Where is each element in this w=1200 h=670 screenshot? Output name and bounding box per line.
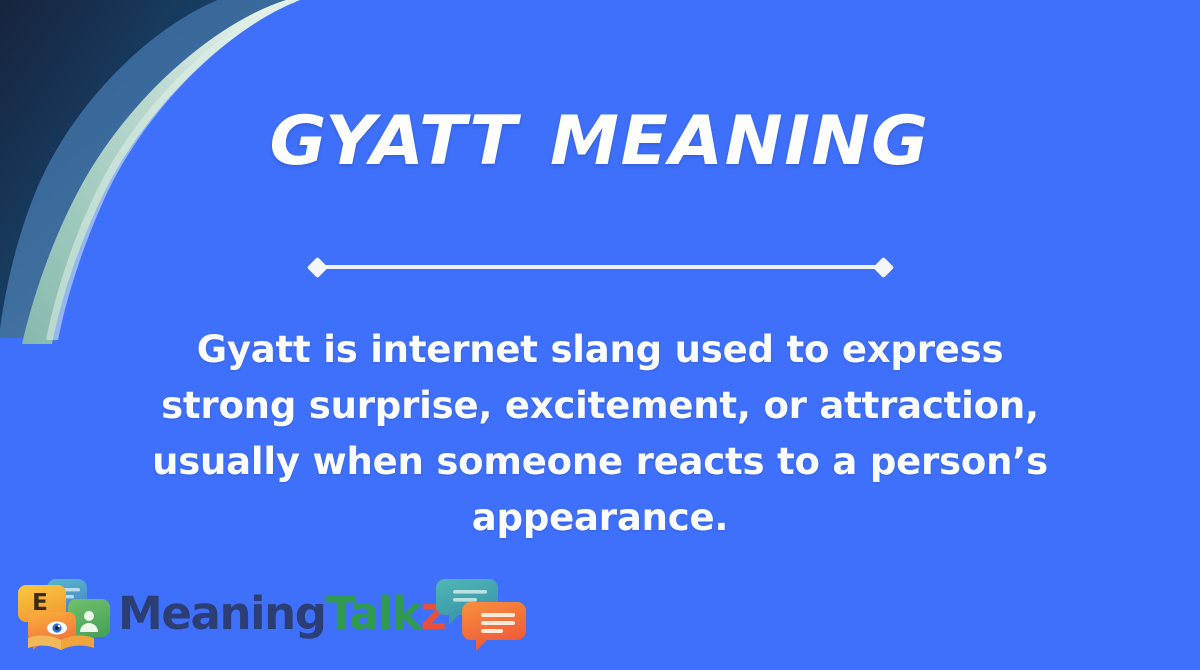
title-block: GYATT MEANING	[0, 103, 1200, 181]
site-logo[interactable]: E MeaningTalkz	[14, 572, 434, 656]
divider-diamond-right	[872, 256, 893, 277]
description-block: Gyatt is internet slang used to express …	[150, 322, 1050, 546]
logo-speech-bubbles-icon	[435, 576, 531, 652]
logo-mark-icon: E	[14, 572, 116, 656]
description-text: Gyatt is internet slang used to express …	[150, 322, 1050, 546]
logo-wordmark: MeaningTalkz	[118, 588, 445, 640]
divider-line	[323, 265, 878, 269]
logo-word-talk: Talk	[326, 587, 421, 640]
infographic-card: GYATT MEANING Gyatt is internet slang us…	[0, 0, 1200, 670]
divider-diamond-left	[306, 256, 327, 277]
page-title: GYATT MEANING	[270, 103, 930, 181]
divider	[0, 256, 1200, 278]
logo-word-meaning: Meaning	[118, 587, 326, 640]
